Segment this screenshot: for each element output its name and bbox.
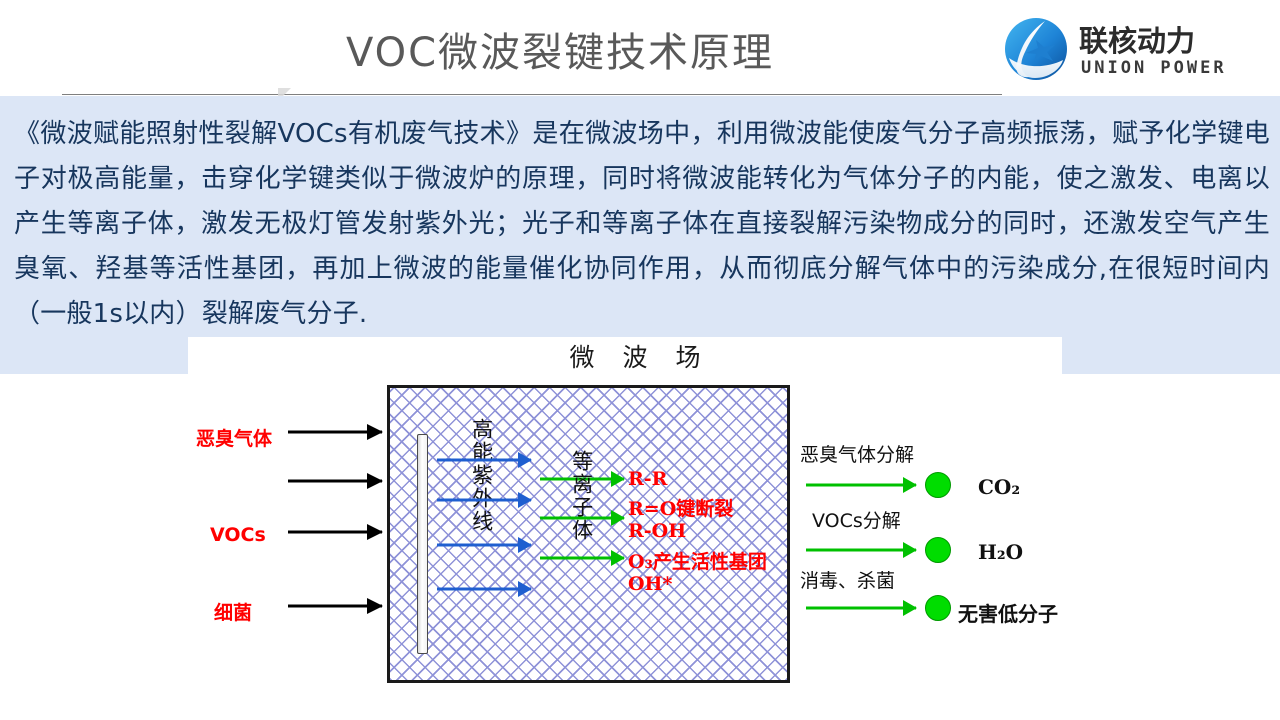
formula-r-oh: R-OH bbox=[628, 520, 686, 542]
description-panel: 《微波赋能照射性裂解VOCs有机废气技术》是在微波场中，利用微波能使废气分子高频… bbox=[0, 96, 1280, 374]
uv-vertical-label: 高能紫外线 bbox=[470, 418, 493, 648]
process-diagram: 恶臭气体 VOCs 细菌 高能紫外线 等离子体 R-R R=O键断裂 bbox=[0, 374, 1280, 720]
output-process-sterilize: 消毒、杀菌 bbox=[800, 566, 895, 593]
input-label-bacteria: 细菌 bbox=[214, 598, 252, 625]
figure-caption: 微 波 场 bbox=[0, 338, 1280, 374]
output-process-odor: 恶臭气体分解 bbox=[800, 440, 914, 467]
slide-header: VOC微波裂键技术原理 bbox=[0, 0, 1280, 96]
output-process-vocs: VOCs分解 bbox=[812, 506, 901, 533]
brand-logo: 联核动力 UNION POWER bbox=[1003, 16, 1265, 86]
formula-o3-radical: O₃产生活性基团 bbox=[628, 547, 767, 574]
input-label-vocs: VOCs bbox=[210, 524, 266, 546]
formula-oh-star: OH* bbox=[628, 573, 672, 595]
formula-ro-bond: R=O键断裂 bbox=[628, 494, 733, 521]
plasma-vertical-label: 等离子体 bbox=[570, 450, 593, 595]
page-title: VOC微波裂键技术原理 bbox=[180, 20, 940, 78]
microwave-chamber: 高能紫外线 等离子体 R-R R=O键断裂 R-OH O₃产生活性基团 OH* bbox=[387, 385, 790, 683]
output-product-h2o: H₂O bbox=[978, 540, 1023, 564]
input-label-odor-gas: 恶臭气体 bbox=[196, 424, 272, 451]
output-dot-2 bbox=[925, 537, 951, 563]
output-product-harmless: 无害低分子 bbox=[958, 598, 1058, 627]
logo-english-name: UNION POWER bbox=[1081, 58, 1227, 78]
slide-root: VOC微波裂键技术原理 bbox=[0, 0, 1280, 720]
output-dot-3 bbox=[925, 595, 951, 621]
title-divider bbox=[62, 94, 1002, 95]
description-paragraph: 《微波赋能照射性裂解VOCs有机废气技术》是在微波场中，利用微波能使废气分子高频… bbox=[14, 112, 1270, 337]
output-dot-1 bbox=[925, 472, 951, 498]
formula-r-r: R-R bbox=[628, 468, 667, 490]
output-product-co2: CO₂ bbox=[978, 475, 1020, 499]
union-power-sphere-icon bbox=[1003, 16, 1069, 82]
uv-lamp-tube-icon bbox=[417, 434, 428, 654]
logo-chinese-name: 联核动力 bbox=[1079, 18, 1195, 60]
